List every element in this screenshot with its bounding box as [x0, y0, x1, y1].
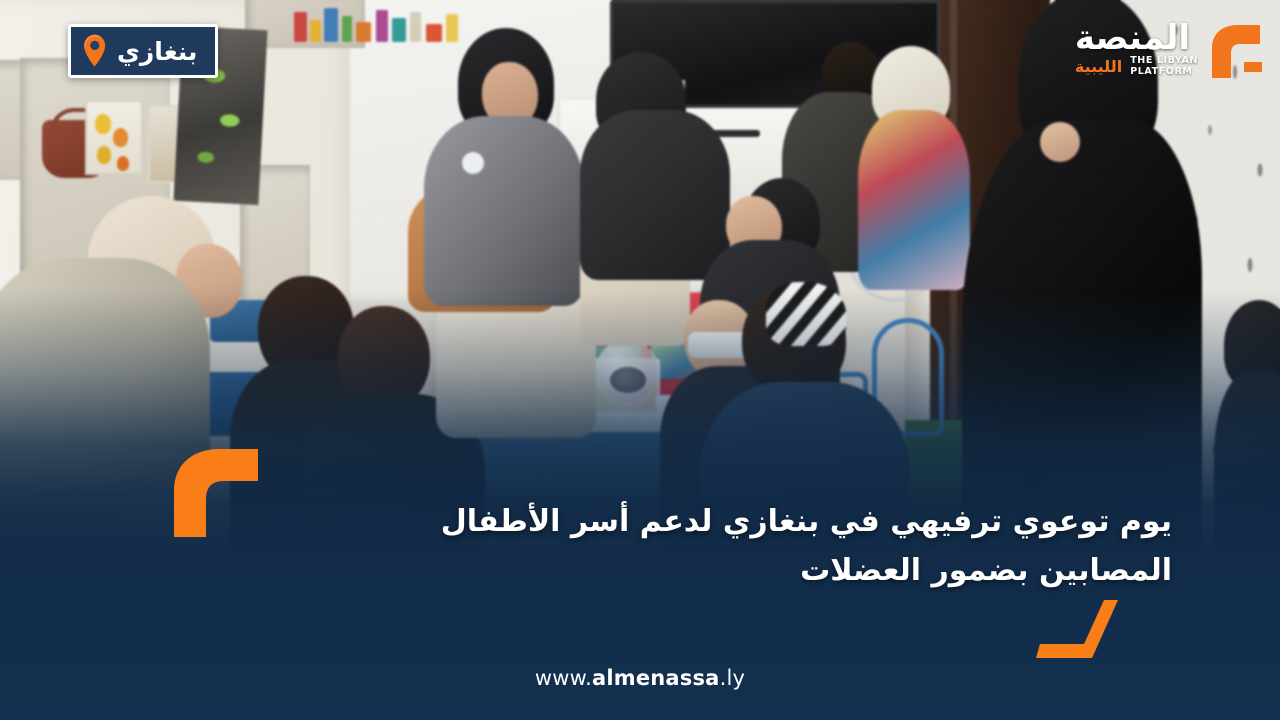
logo-arabic-qualifier: الليبية	[1075, 59, 1122, 75]
almenassa-bracket-mark-icon	[1204, 22, 1266, 80]
logo-arabic-name: المنصة	[1075, 22, 1190, 54]
logo-english-line1: THE LIBYAN	[1130, 55, 1198, 66]
logo-english-line2: PLATFORM	[1130, 66, 1192, 77]
logo-subline: THE LIBYAN PLATFORM الليبية	[1075, 56, 1198, 77]
quote-open-icon	[168, 447, 264, 539]
website-url[interactable]: www.almenassa.ly	[0, 666, 1280, 690]
headline: يوم توعوي ترفيهي في بنغازي لدعم أسر الأط…	[352, 498, 1172, 595]
location-label: بنغازي	[117, 39, 197, 64]
url-tld: .ly	[720, 666, 746, 690]
url-prefix: www.	[535, 666, 592, 690]
logo-wordmark: المنصة THE LIBYAN PLATFORM الليبية	[1075, 22, 1198, 78]
location-badge[interactable]: بنغازي	[68, 24, 218, 78]
url-domain-name: almenassa	[592, 666, 720, 690]
news-card: بنغازي المنصة THE LIBYAN PLATFORM الليبي…	[0, 0, 1280, 720]
map-pin-icon	[83, 34, 107, 68]
logo-english-text: THE LIBYAN PLATFORM	[1130, 56, 1198, 77]
quote-close-icon	[1030, 600, 1122, 662]
almenassa-logo[interactable]: المنصة THE LIBYAN PLATFORM الليبية	[1075, 22, 1266, 80]
